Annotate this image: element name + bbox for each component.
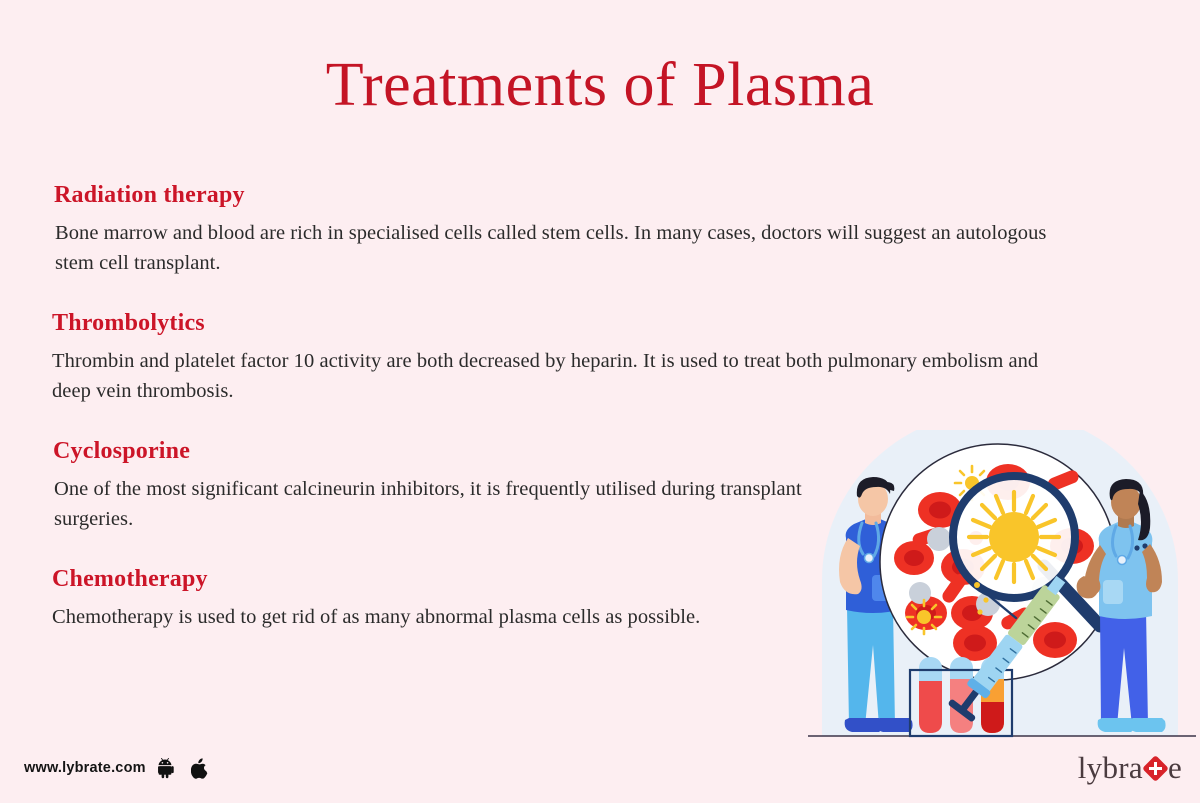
plasma-star-cell (969, 492, 1059, 582)
section-body: Thrombin and platelet factor 10 activity… (52, 346, 1052, 406)
star-cell-small (907, 600, 941, 634)
site-url[interactable]: www.lybrate.com (24, 760, 146, 776)
treatment-section-radiation-therapy: Radiation therapy Bone marrow and blood … (52, 180, 1092, 278)
logo-word-prefix: lybra (1078, 751, 1143, 785)
section-heading: Radiation therapy (52, 180, 1092, 210)
page-title: Treatments of Plasma (0, 48, 1200, 122)
apple-icon[interactable] (190, 757, 210, 779)
plasma-illustration (800, 430, 1200, 748)
section-body: Chemotherapy is used to get rid of as ma… (52, 602, 812, 632)
footer: www.lybrate.com (0, 743, 1200, 803)
lybrate-logo[interactable]: lybra e (1078, 751, 1182, 785)
section-heading: Thrombolytics (52, 308, 1092, 338)
section-body: One of the most significant calcineurin … (52, 474, 829, 534)
diamond-plus-icon (1144, 757, 1167, 780)
footer-left-group: www.lybrate.com (24, 757, 210, 779)
section-body: Bone marrow and blood are rich in specia… (52, 218, 1077, 278)
android-icon[interactable] (158, 757, 178, 779)
treatment-section-thrombolytics: Thrombolytics Thrombin and platelet fact… (52, 308, 1092, 406)
logo-word-suffix: e (1168, 751, 1182, 785)
